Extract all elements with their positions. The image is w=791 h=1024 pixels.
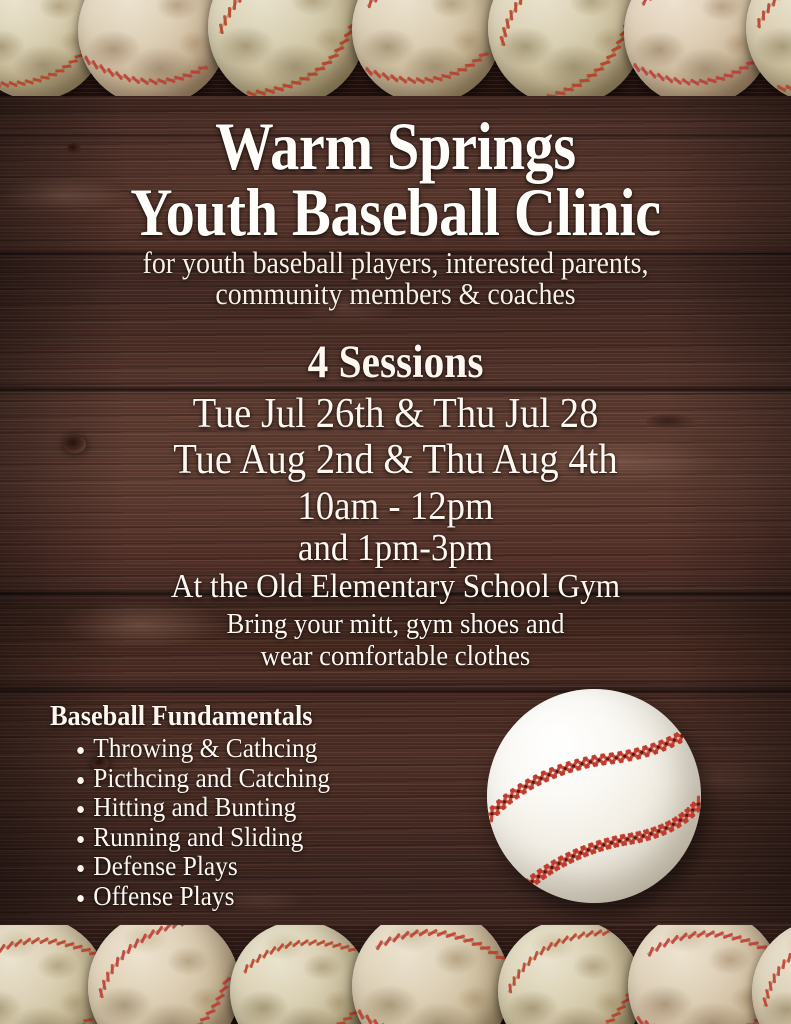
bullet-icon [77, 895, 84, 902]
poster-title-line1: Warm Springs [55, 112, 735, 180]
session-time-line1: 10am - 12pm [32, 484, 760, 528]
fundamentals-item-label: Hitting and Bunting [93, 792, 296, 822]
bullet-icon [77, 836, 84, 843]
fundamentals-list: Throwing & CathcingPicthcing and Catchin… [50, 734, 348, 911]
sessions-heading: 4 Sessions [47, 337, 743, 387]
baseball-clinic-poster: Warm Springs Youth Baseball Clinic for y… [0, 0, 791, 1024]
bullet-icon [77, 747, 84, 754]
fundamentals-item-label: Defense Plays [93, 851, 237, 881]
bullet-icon [77, 777, 84, 784]
fundamentals-list-item: Defense Plays [50, 852, 330, 882]
fundamentals-list-item: Hitting and Bunting [50, 793, 330, 823]
fundamentals-item-label: Throwing & Cathcing [93, 733, 317, 763]
venue-location: At the Old Elementary School Gym [32, 568, 760, 606]
fundamentals-heading: Baseball Fundamentals [50, 702, 330, 732]
session-date-line2: Tue Aug 2nd & Thu Aug 4th [32, 437, 760, 483]
fundamentals-list-item: Offense Plays [50, 882, 330, 912]
fundamentals-list-item: Picthcing and Catching [50, 764, 330, 794]
bullet-icon [77, 806, 84, 813]
session-date-line1: Tue Jul 26th & Thu Jul 28 [32, 391, 760, 437]
bullet-icon [77, 865, 84, 872]
fundamentals-item-label: Picthcing and Catching [93, 763, 330, 793]
fundamentals-list-item: Running and Sliding [50, 823, 330, 853]
poster-subtitle-line2: community members & coaches [40, 277, 752, 310]
baseball-fundamentals-section: Baseball Fundamentals Throwing & Cathcin… [50, 702, 348, 911]
bring-instructions-line1: Bring your mitt, gym shoes and [32, 608, 760, 640]
bring-instructions-line2: wear comfortable clothes [32, 640, 760, 672]
fundamentals-item-label: Running and Sliding [93, 822, 303, 852]
fundamentals-item-label: Offense Plays [93, 881, 234, 911]
poster-title-line2: Youth Baseball Clinic [55, 178, 735, 246]
poster-subtitle-line1: for youth baseball players, interested p… [40, 246, 752, 279]
session-time-line2: and 1pm-3pm [32, 527, 760, 569]
fundamentals-list-item: Throwing & Cathcing [50, 734, 330, 764]
